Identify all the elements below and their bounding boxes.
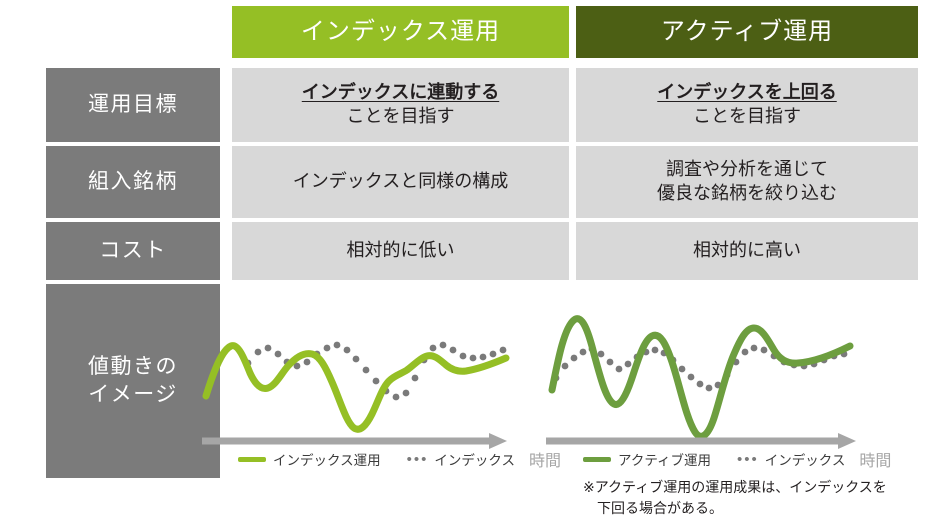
- header-active-label: アクティブ運用: [661, 16, 833, 48]
- row-label-cost: コスト: [46, 222, 220, 280]
- row-label-text: 組入銘柄: [88, 168, 178, 196]
- cell-goal-index-emphasis: インデックスに連動する: [302, 82, 499, 102]
- legend-active-chart: アクティブ運用 ••• インデックス 時間: [583, 447, 891, 471]
- row-label-investment-goal: 運用目標: [46, 68, 220, 142]
- cell-holdings-active-line1: 調査や分析を通じて: [576, 158, 918, 182]
- cell-holdings-index: インデックスと同様の構成: [232, 146, 569, 218]
- cell-cost-index: 相対的に低い: [232, 222, 569, 280]
- legend-axis-label: 時間: [859, 447, 891, 471]
- chart-active-svg: [530, 278, 872, 472]
- row-label-text: コスト: [99, 237, 167, 265]
- footnote-line1: ※アクティブ運用の運用成果は、インデックスを: [583, 479, 887, 495]
- legend-dots-swatch-icon: •••: [737, 452, 759, 467]
- chart-active-performance: [530, 278, 872, 472]
- footnote: ※アクティブ運用の運用成果は、インデックスを 下回る場合がある。: [583, 477, 933, 519]
- header-active-column: アクティブ運用: [576, 6, 918, 58]
- row-label-holdings: 組入銘柄: [46, 146, 220, 218]
- chart-index-svg: [186, 278, 523, 472]
- cell-holdings-index-line1: インデックスと同様の構成: [232, 170, 569, 194]
- header-index-label: インデックス運用: [301, 16, 500, 48]
- legend-dots-label: インデックス: [434, 449, 515, 469]
- legend-axis-label: 時間: [529, 447, 561, 471]
- legend-line-label: アクティブ運用: [618, 449, 711, 469]
- cell-cost-active-text: 相対的に高い: [693, 239, 801, 263]
- cell-goal-index-rest: ことを目指す: [232, 105, 569, 129]
- row-label-text: 運用目標: [88, 91, 178, 119]
- cell-goal-index: インデックスに連動する ことを目指す: [232, 68, 569, 142]
- legend-dots-swatch-icon: •••: [407, 452, 429, 467]
- legend-line-swatch-icon: [238, 457, 266, 462]
- cell-holdings-active-line2: 優良な銘柄を絞り込む: [576, 182, 918, 206]
- cell-goal-active: インデックスを上回る ことを目指す: [576, 68, 918, 142]
- legend-dots-label: インデックス: [765, 449, 846, 469]
- legend-line-label: インデックス運用: [273, 449, 381, 469]
- legend-line-swatch-icon: [583, 457, 611, 462]
- cell-goal-active-rest: ことを目指す: [576, 105, 918, 129]
- header-index-column: インデックス運用: [232, 6, 569, 58]
- footnote-line2: 下回る場合がある。: [583, 498, 933, 519]
- cell-holdings-active: 調査や分析を通じて 優良な銘柄を絞り込む: [576, 146, 918, 218]
- series-active-line-right: [552, 319, 850, 437]
- cell-cost-active: 相対的に高い: [576, 222, 918, 280]
- chart-index-performance: [186, 278, 523, 472]
- cell-goal-active-emphasis: インデックスを上回る: [657, 82, 836, 102]
- legend-index-chart: インデックス運用 ••• インデックス 時間: [238, 447, 561, 471]
- cell-cost-index-text: 相対的に低い: [347, 239, 455, 263]
